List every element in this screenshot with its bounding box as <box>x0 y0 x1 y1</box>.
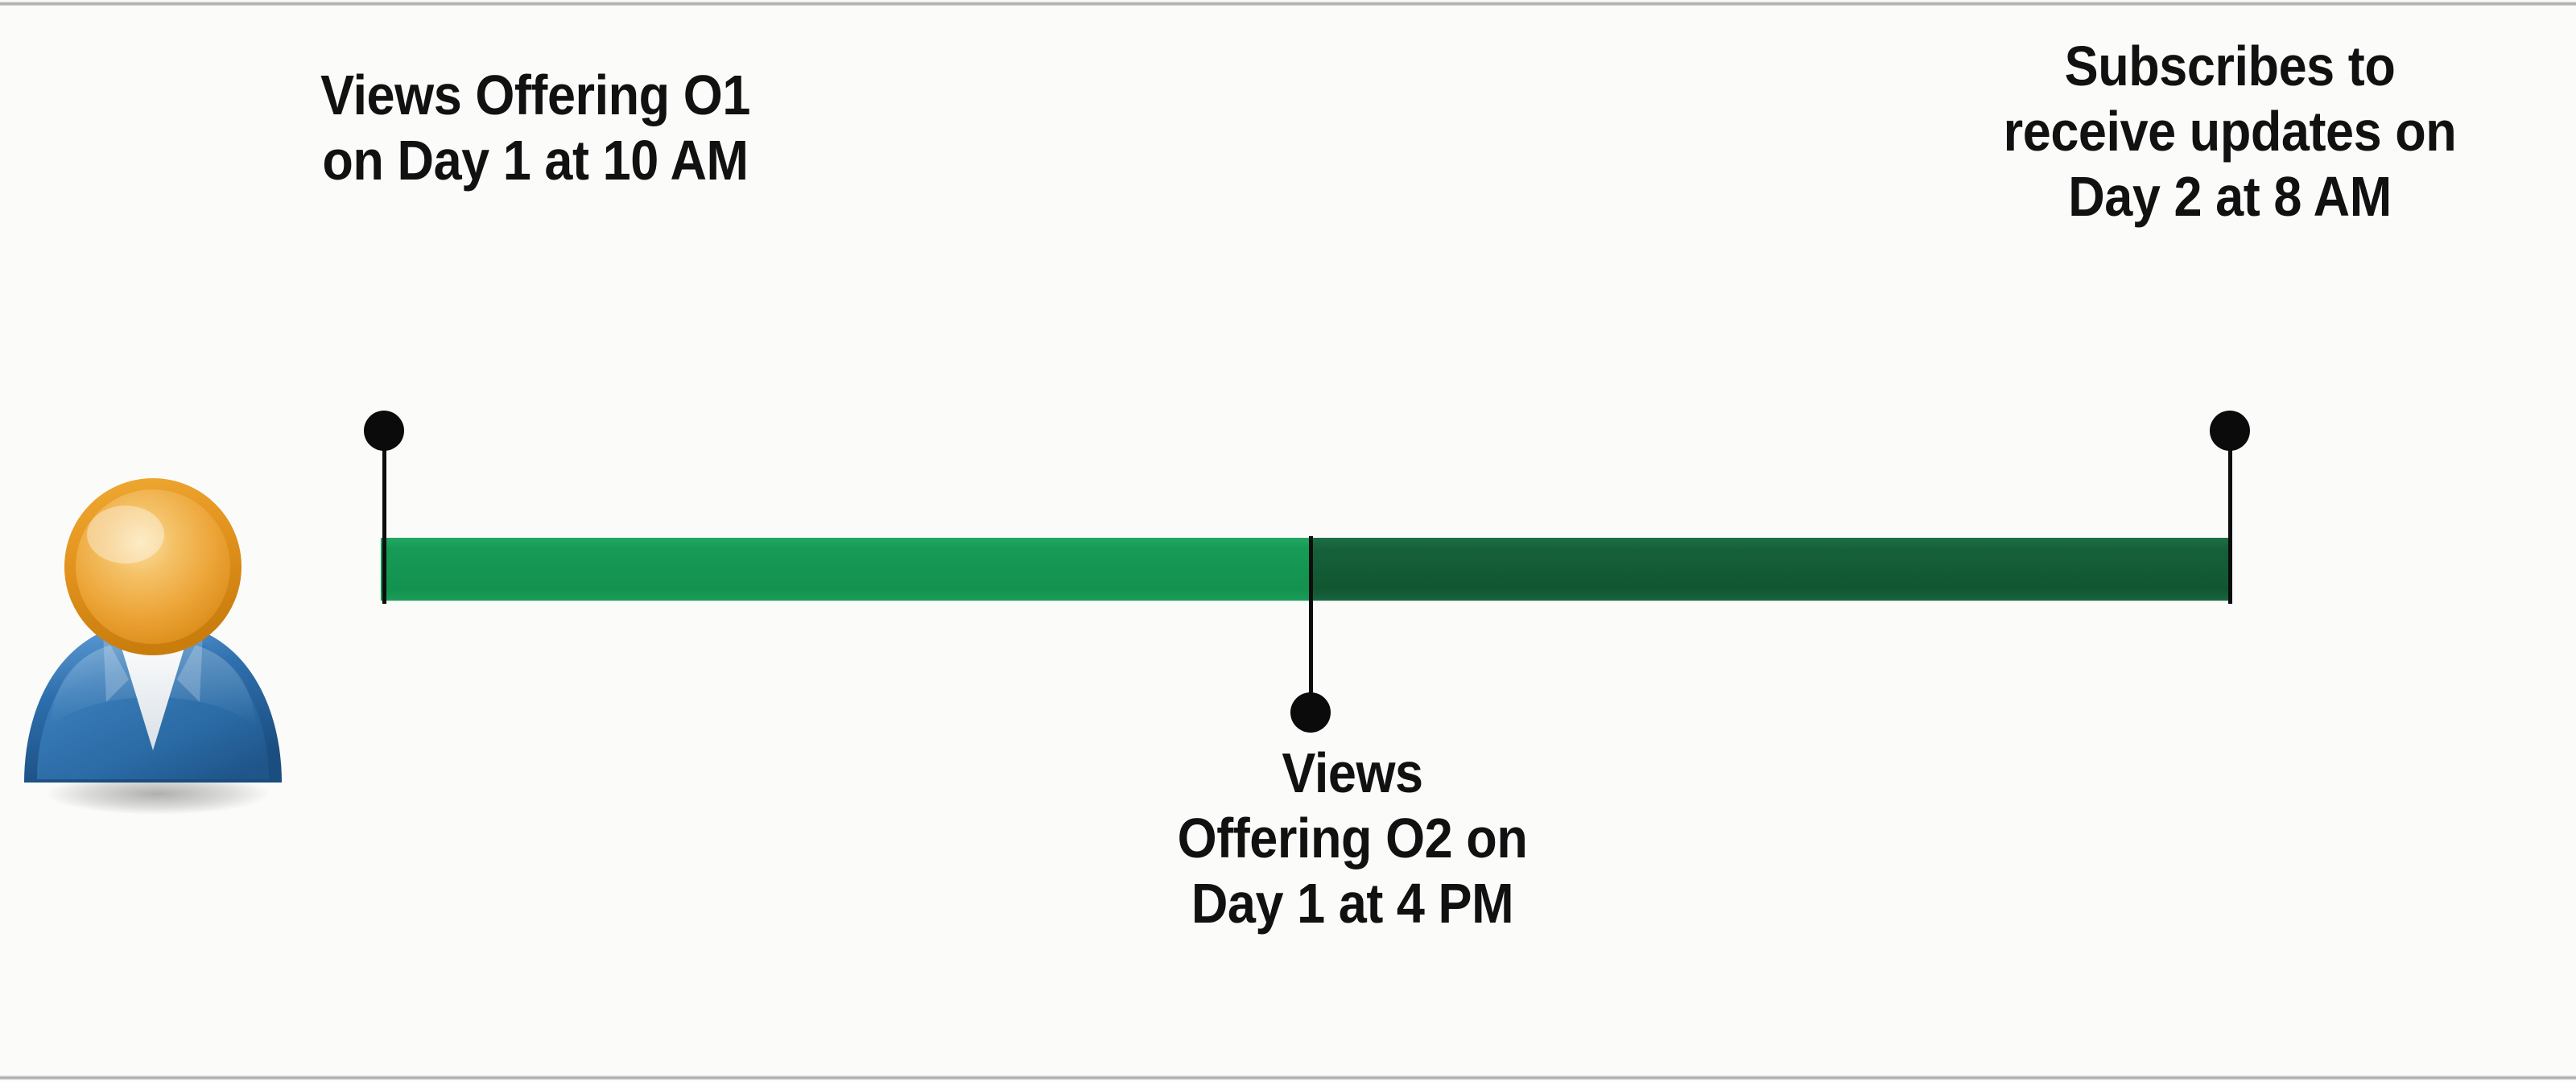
bottom-divider-rule <box>0 1076 2576 1080</box>
event-label-views-offering-o1: Views Offering O1 on Day 1 at 10 AM <box>246 63 825 193</box>
user-person-icon <box>8 460 298 815</box>
event-label-line: Subscribes to <box>1940 34 2520 99</box>
marker-dot-icon <box>1290 692 1331 733</box>
marker-stem <box>1309 536 1313 713</box>
event-label-subscribes: Subscribes to receive updates on Day 2 a… <box>1940 34 2520 230</box>
event-label-line: Offering O2 on <box>1063 806 1642 871</box>
event-label-line: on Day 1 at 10 AM <box>246 128 825 193</box>
top-divider-rule <box>0 2 2576 6</box>
event-label-line: Day 2 at 8 AM <box>1940 164 2520 229</box>
event-label-line: Views <box>1063 741 1642 806</box>
marker-stem <box>382 430 386 604</box>
event-label-line: receive updates on <box>1940 99 2520 164</box>
event-label-line: Views Offering O1 <box>246 63 825 128</box>
marker-stem <box>2228 430 2232 604</box>
marker-dot-icon <box>364 411 404 451</box>
event-label-views-offering-o2: Views Offering O2 on Day 1 at 4 PM <box>1063 741 1642 937</box>
timeline-segment-1 <box>381 538 1311 601</box>
event-label-line: Day 1 at 4 PM <box>1063 871 1642 936</box>
marker-dot-icon <box>2210 411 2250 451</box>
timeline-diagram-canvas: Views Offering O1 on Day 1 at 10 AM View… <box>0 0 2576 1082</box>
timeline-segment-2 <box>1311 538 2230 601</box>
